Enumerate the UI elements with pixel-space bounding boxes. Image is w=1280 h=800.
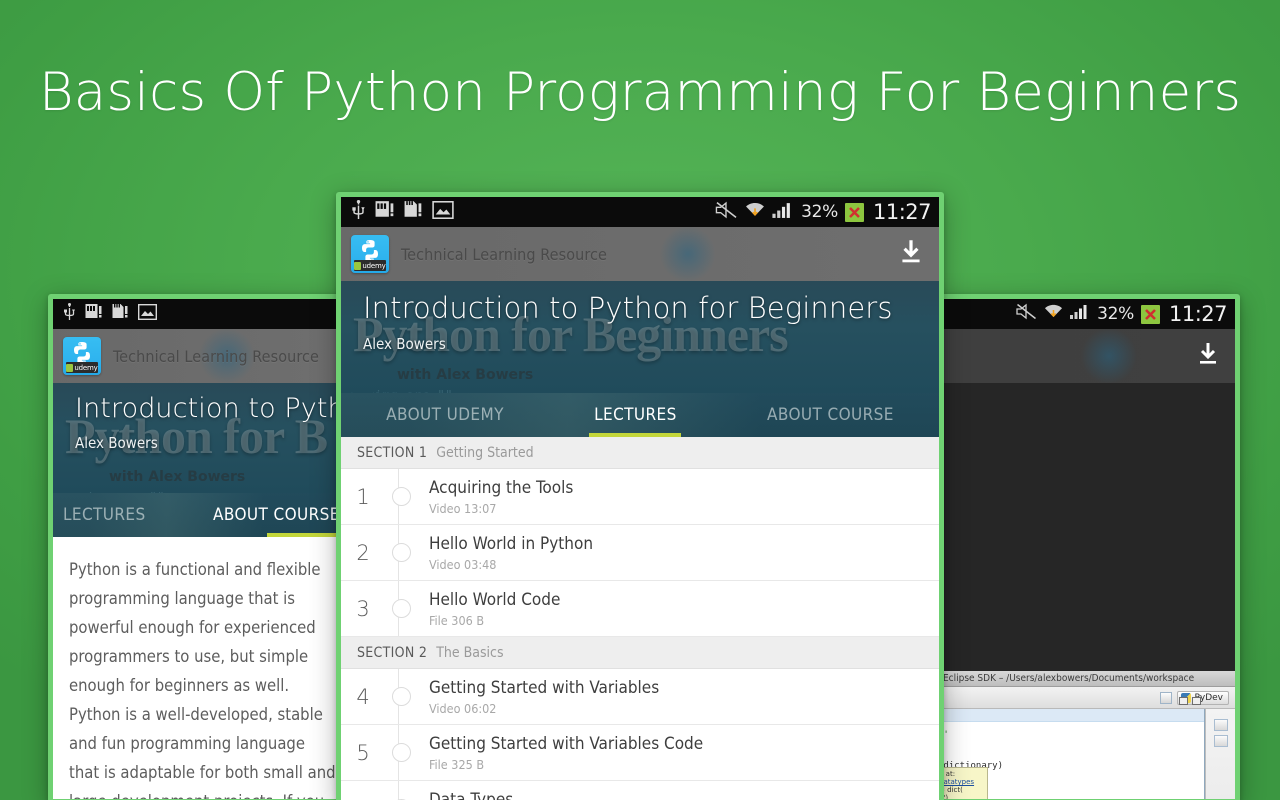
- outline-view-icon[interactable]: [1214, 719, 1228, 731]
- udemy-badge: udemy: [66, 362, 98, 373]
- lecture-title: Hello World in Python: [429, 534, 927, 554]
- hero-art-subtitle: with Alex Bowers: [397, 367, 533, 383]
- background-panel-right: 32% 11:27 Eclipse SDK – /Users/alexbower…: [930, 294, 1240, 800]
- current-line-highlight: [936, 709, 1204, 722]
- datatypes-link[interactable]: datatypes: [939, 778, 974, 786]
- battery-error-icon: [845, 203, 864, 222]
- lecture-status-dot[interactable]: [392, 743, 411, 762]
- lecture-row[interactable]: 4 Getting Started with Variables Video 0…: [341, 669, 939, 725]
- about-course-text: Python is a functional and flexible prog…: [53, 537, 353, 799]
- screenshot-image-icon: [138, 304, 157, 325]
- status-bar-right-icons: 32% 11:27: [715, 200, 931, 224]
- status-bar: 32% 11:27: [341, 197, 939, 227]
- status-clock: 11:27: [1169, 302, 1227, 326]
- section-header: SECTION 2 The Basics: [341, 637, 939, 669]
- section-label: SECTION 2: [357, 645, 427, 661]
- course-title: Introduction to Python for Beginners: [75, 393, 353, 424]
- app-bar-title: Technical Learning Resource: [113, 347, 319, 366]
- eclipse-view-rail[interactable]: [1205, 709, 1235, 799]
- about-paragraph: Python is a functional and flexible prog…: [69, 555, 337, 799]
- maximize-icon: [1192, 697, 1201, 705]
- mute-icon: [715, 201, 738, 224]
- hierarchy-view-icon[interactable]: [1214, 735, 1228, 747]
- lecture-title: Data Types: [429, 790, 927, 800]
- python-udemy-app-icon: udemy: [63, 337, 101, 375]
- lecture-meta: Video 06:02: [429, 701, 927, 716]
- lecture-list[interactable]: SECTION 1 Getting Started 1 Acquiring th…: [341, 437, 939, 800]
- lecture-number: 2: [341, 541, 385, 565]
- screenshot-image-icon: [432, 201, 454, 224]
- sd-card-error-icon: [375, 200, 395, 224]
- lecture-row[interactable]: 5 Getting Started with Variables Code Fi…: [341, 725, 939, 781]
- lecture-meta: Video 13:07: [429, 501, 927, 516]
- course-hero: Python for Beginners with Alex Bowers > …: [341, 281, 939, 393]
- lecture-meta: Video 03:48: [429, 557, 927, 572]
- sim-card-error-icon: [404, 200, 423, 224]
- editor-minmax-controls[interactable]: [1179, 697, 1201, 705]
- tab-about-course[interactable]: ABOUT COURSE: [722, 393, 939, 437]
- usb-icon: [63, 303, 76, 325]
- lecture-title: Acquiring the Tools: [429, 478, 927, 498]
- course-author: Alex Bowers: [363, 335, 939, 353]
- lecture-status-dot[interactable]: [392, 543, 411, 562]
- battery-error-icon: [1141, 305, 1160, 324]
- udemy-badge: udemy: [354, 260, 386, 271]
- app-bar: udemy Technical Learning Resource: [341, 227, 939, 281]
- tab-lectures[interactable]: LECTURES: [549, 393, 722, 437]
- eclipse-title-bar: Eclipse SDK – /Users/alexbowers/Document…: [935, 671, 1235, 687]
- app-bar-title: Technical Learning Resource: [401, 245, 607, 264]
- lecture-title: Getting Started with Variables: [429, 678, 927, 698]
- foreground-phone-panel: 32% 11:27 udemy: [336, 192, 944, 800]
- page-title: Basics Of Python Programming For Beginne…: [0, 62, 1280, 123]
- signal-bars-icon: [1070, 303, 1090, 325]
- course-title: Introduction to Python for Beginners: [363, 291, 939, 325]
- status-bar-left-panel: [53, 299, 353, 329]
- tab-bar[interactable]: ABOUT UDEMY LECTURES ABOUT COURSE: [341, 393, 939, 437]
- section-name: Getting Started: [436, 445, 533, 461]
- lecture-number: 1: [341, 485, 385, 509]
- tab-bar-left-panel[interactable]: LECTURES ABOUT COURSE: [53, 493, 353, 537]
- poster-stage: Basics Of Python Programming For Beginne…: [0, 0, 1280, 800]
- hero-art-subtitle: with Alex Bowers: [109, 469, 245, 485]
- lecture-row[interactable]: 1 Acquiring the Tools Video 13:07: [341, 469, 939, 525]
- status-clock: 11:27: [873, 200, 931, 224]
- lecture-row[interactable]: 2 Hello World in Python Video 03:48: [341, 525, 939, 581]
- course-author: Alex Bowers: [75, 434, 353, 452]
- signal-bars-icon: [772, 201, 794, 224]
- mute-icon: [1016, 303, 1037, 325]
- lecture-number: 3: [341, 597, 385, 621]
- tab-lectures[interactable]: LECTURES: [63, 493, 213, 537]
- battery-percent: 32%: [801, 202, 838, 222]
- lecture-status-dot[interactable]: [392, 599, 411, 618]
- app-bar-right-panel: [935, 329, 1235, 383]
- lecture-status-dot[interactable]: [392, 487, 411, 506]
- lecture-meta: File 325 B: [429, 757, 927, 772]
- lecture-meta: File 306 B: [429, 613, 927, 628]
- wifi-icon: [1044, 303, 1063, 325]
- course-hero-left-panel: Python for B with Alex Bowers > <img src…: [53, 383, 353, 493]
- lecture-title: Hello World Code: [429, 590, 927, 610]
- eclipse-screenshot-area: Eclipse SDK – /Users/alexbowers/Document…: [935, 383, 1235, 799]
- eclipse-editor[interactable]: "' (dictionary) d at: datatypes = dict( …: [935, 709, 1205, 799]
- lecture-row[interactable]: 3 Hello World Code File 306 B: [341, 581, 939, 637]
- lecture-number: 5: [341, 741, 385, 765]
- status-bar-left-icons: [351, 200, 454, 224]
- open-perspective-icon[interactable]: [1160, 692, 1172, 704]
- download-icon[interactable]: [1195, 340, 1221, 373]
- lecture-row[interactable]: 6 Data Types Video 05:21: [341, 781, 939, 800]
- tab-about-course[interactable]: ABOUT COURSE: [213, 493, 353, 537]
- sim-card-error-icon: [112, 303, 129, 325]
- battery-percent: 32%: [1097, 304, 1134, 324]
- background-panel-left: udemy Technical Learning Resource Python…: [48, 294, 358, 800]
- python-udemy-app-icon[interactable]: udemy: [351, 235, 389, 273]
- lecture-number: 6: [341, 797, 385, 800]
- minimize-icon: [1179, 697, 1188, 705]
- tab-about-udemy[interactable]: ABOUT UDEMY: [341, 393, 549, 437]
- wifi-icon: [745, 201, 765, 224]
- eclipse-window: Eclipse SDK – /Users/alexbowers/Document…: [935, 671, 1235, 799]
- section-header: SECTION 1 Getting Started: [341, 437, 939, 469]
- status-bar-right-panel: 32% 11:27: [935, 299, 1235, 329]
- download-icon[interactable]: [897, 237, 925, 272]
- lecture-status-dot[interactable]: [392, 687, 411, 706]
- lecture-title: Getting Started with Variables Code: [429, 734, 927, 754]
- lecture-number: 4: [341, 685, 385, 709]
- section-name: The Basics: [436, 645, 503, 661]
- sd-card-error-icon: [85, 303, 103, 325]
- usb-icon: [351, 200, 366, 224]
- app-bar-left-panel: udemy Technical Learning Resource: [53, 329, 353, 383]
- section-label: SECTION 1: [357, 445, 427, 461]
